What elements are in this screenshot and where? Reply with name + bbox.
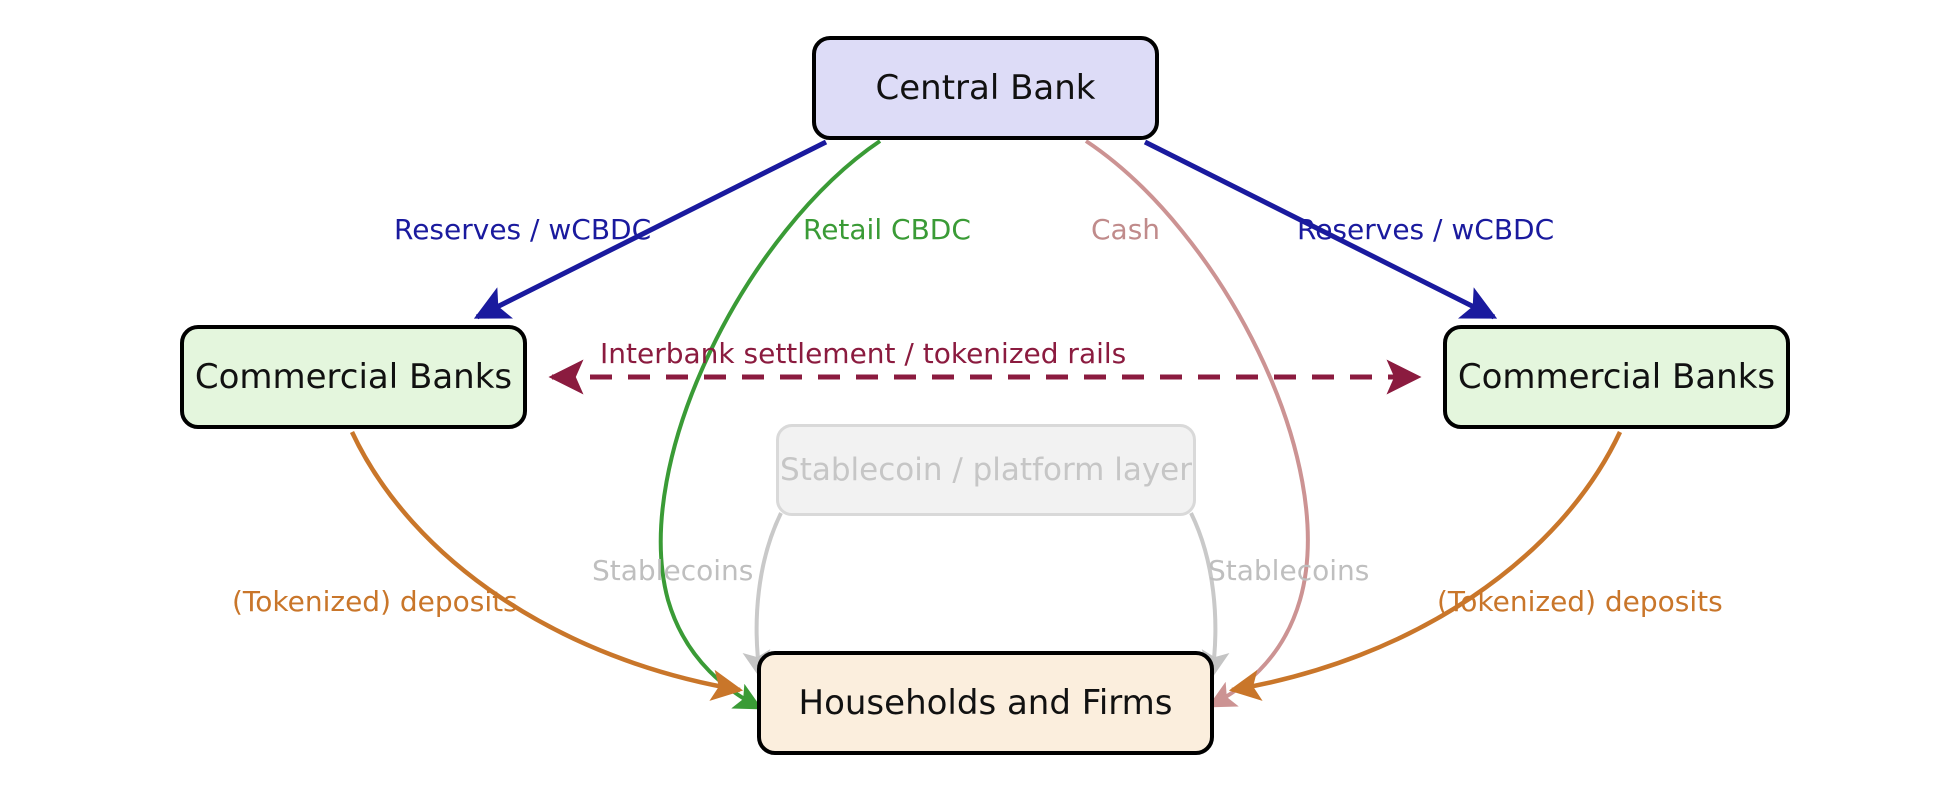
node-commercial-banks-right-label: Commercial Banks — [1458, 357, 1775, 397]
node-central-bank[interactable]: Central Bank — [812, 36, 1159, 140]
edge-label-retail-cbdc: Retail CBDC — [803, 216, 971, 244]
edge-label-stablecoins-left: Stablecoins — [592, 557, 753, 585]
edge-label-deposits-right: (Tokenized) deposits — [1437, 588, 1723, 616]
edge-label-reserves-left: Reserves / wCBDC — [394, 216, 651, 244]
node-stablecoin-platform-layer[interactable]: Stablecoin / platform layer — [776, 424, 1196, 516]
node-stablecoin-platform-layer-label: Stablecoin / platform layer — [780, 452, 1192, 488]
node-households-and-firms[interactable]: Households and Firms — [757, 651, 1214, 755]
edge-label-interbank-settlement: Interbank settlement / tokenized rails — [600, 340, 1126, 368]
node-central-bank-label: Central Bank — [875, 68, 1095, 108]
edge-label-stablecoins-right: Stablecoins — [1208, 557, 1369, 585]
diagram-canvas: Central Bank Commercial Banks Commercial… — [0, 0, 1958, 800]
node-households-and-firms-label: Households and Firms — [799, 683, 1173, 723]
edge-label-deposits-left: (Tokenized) deposits — [232, 588, 518, 616]
edge-label-reserves-right: Reserves / wCBDC — [1297, 216, 1554, 244]
node-commercial-banks-left-label: Commercial Banks — [195, 357, 512, 397]
node-commercial-banks-left[interactable]: Commercial Banks — [180, 325, 527, 429]
edge-label-cash: Cash — [1091, 216, 1160, 244]
node-commercial-banks-right[interactable]: Commercial Banks — [1443, 325, 1790, 429]
